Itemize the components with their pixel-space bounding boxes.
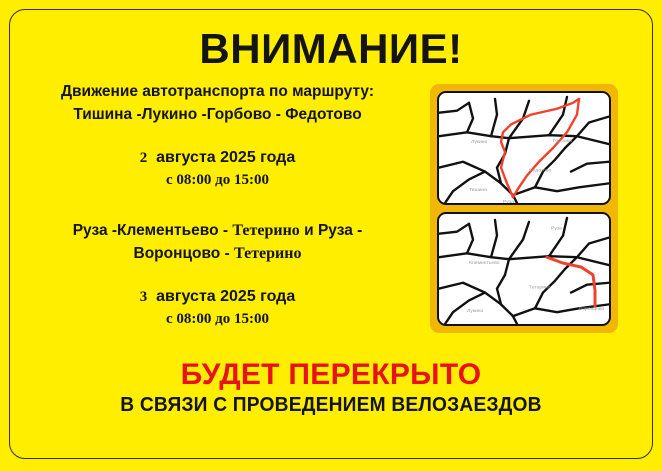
notice-1-date: 2 августа 2025 года	[20, 147, 415, 169]
map2-label-1: Клементьево	[469, 260, 500, 266]
notice-block-2: Руза -Клементьево - Тетерино и Руза - Во…	[20, 219, 415, 329]
notice-1-intro: Движение автотранспорта по маршруту:	[20, 80, 415, 103]
notice-2-date: 3 августа 2025 года	[20, 286, 415, 308]
closed-notice: БУДЕТ ПЕРЕКРЫТО	[0, 358, 662, 392]
notice-1-route: Тишина -Лукино -Горбово - Федотово	[20, 103, 415, 126]
map2-label-3: Воронцово	[579, 306, 605, 312]
notice-2-route-line-1: Руза -Клементьево - Тетерино и Руза -	[20, 219, 415, 242]
map2-label-2: Тетерино	[529, 285, 551, 291]
map-card-2[interactable]: Руза Клементьево Тетерино Воронцово Луки…	[437, 212, 611, 326]
notice-2-route-line-2: Воронцово - Тетерино	[20, 242, 415, 265]
notice-2-day: 3	[140, 289, 148, 305]
notice-2-time: с 08:00 до 15:00	[20, 310, 415, 329]
notice-block-1: Движение автотранспорта по маршруту: Тиш…	[20, 80, 415, 190]
notice-2-route-line2-prefix: Воронцово -	[134, 245, 235, 262]
notice-2-route-serif-teterino: Тетерино	[232, 222, 299, 239]
notice-1-month-year: августа 2025 года	[156, 149, 295, 166]
map-image-1: Лукино Горбово Тишина Федотово Руза	[439, 93, 609, 203]
notice-1-time: с 08:00 до 15:00	[20, 171, 415, 190]
notice-2-route-part-a: Руза -Клементьево -	[73, 222, 233, 239]
page-title: ВНИМАНИЕ!	[0, 26, 662, 72]
poster-root: ВНИМАНИЕ! Движение автотранспорта по мар…	[0, 0, 662, 471]
notice-2-route-line2-serif-teterino: Тетерино	[234, 245, 301, 262]
notice-2-month-year: августа 2025 года	[156, 288, 295, 305]
map2-label-0: Руза	[551, 226, 562, 232]
notice-2-route-part-b: и Руза -	[300, 222, 362, 239]
map1-label-0: Лукино	[471, 139, 488, 145]
map2-label-4: Лукино	[467, 308, 484, 314]
map1-label-2: Тишина	[469, 187, 487, 193]
map-image-2: Руза Клементьево Тетерино Воронцово Луки…	[439, 214, 609, 324]
map1-label-1: Горбово	[553, 138, 572, 144]
notice-1-day: 2	[140, 150, 148, 166]
notices-column: Движение автотранспорта по маршруту: Тиш…	[20, 80, 415, 329]
reason-notice: В СВЯЗИ С ПРОВЕДЕНИЕМ ВЕЛОЗАЕЗДОВ	[13, 393, 649, 417]
map1-label-3: Федотово	[529, 168, 552, 174]
map1-label-4: Руза	[503, 199, 514, 203]
maps-panel: Лукино Горбово Тишина Федотово Руза	[430, 84, 618, 333]
map-card-1[interactable]: Лукино Горбово Тишина Федотово Руза	[437, 91, 611, 205]
